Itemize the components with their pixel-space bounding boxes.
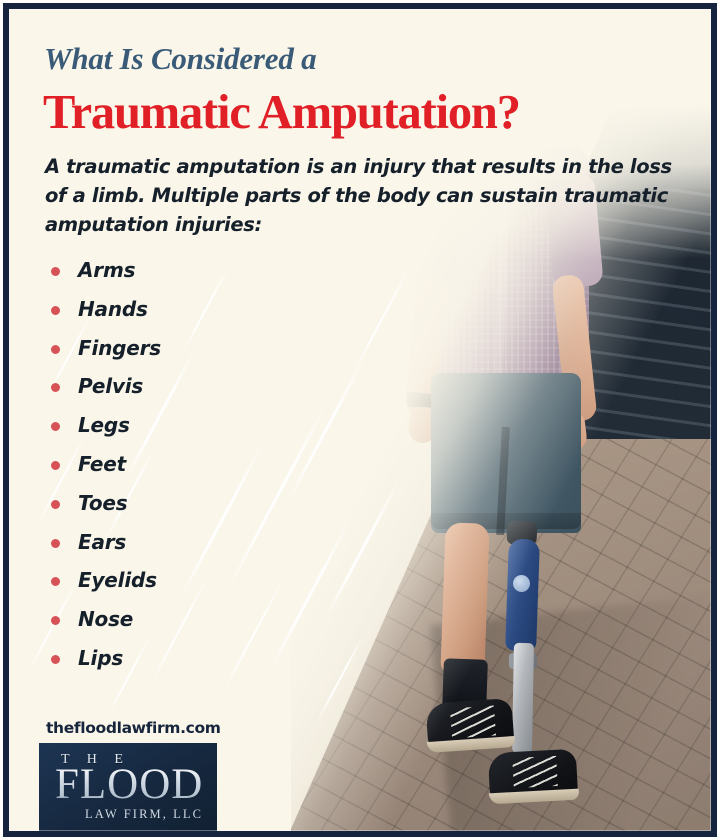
list-item-label: Eyelids	[78, 568, 157, 592]
bullet-dot-icon	[51, 345, 60, 354]
list-item: Ears	[47, 527, 347, 566]
list-item: Fingers	[47, 333, 347, 372]
list-item-label: Arms	[78, 258, 135, 282]
list-item-label: Lips	[78, 646, 123, 670]
bullet-dot-icon	[51, 422, 60, 431]
bullet-dot-icon	[51, 539, 60, 548]
list-item-label: Nose	[78, 607, 133, 631]
list-item: Toes	[47, 488, 347, 527]
list-item-label: Fingers	[78, 336, 161, 360]
list-item-label: Toes	[78, 491, 127, 515]
bullet-dot-icon	[51, 500, 60, 509]
content-layer: What Is Considered a Traumatic Amputatio…	[9, 9, 711, 831]
bullet-dot-icon	[51, 461, 60, 470]
bullet-dot-icon	[51, 577, 60, 586]
list-item: Eyelids	[47, 565, 347, 604]
list-item-label: Hands	[78, 297, 148, 321]
list-item: Pelvis	[47, 371, 347, 410]
intro-paragraph: A traumatic amputation is an injury that…	[45, 152, 677, 239]
page-title: Traumatic Amputation?	[43, 83, 520, 140]
list-item-label: Pelvis	[78, 374, 143, 398]
list-item: Hands	[47, 294, 347, 333]
infographic-frame: What Is Considered a Traumatic Amputatio…	[3, 3, 717, 837]
body-parts-list: Arms Hands Fingers Pelvis Legs	[47, 255, 347, 682]
bullet-dot-icon	[51, 655, 60, 664]
infographic-root: What Is Considered a Traumatic Amputatio…	[0, 0, 720, 840]
list-item: Arms	[47, 255, 347, 294]
bullet-dot-icon	[51, 267, 60, 276]
headline-kicker: What Is Considered a	[44, 41, 316, 77]
list-item-label: Ears	[78, 530, 126, 554]
logo-line-flood: FLOOD	[55, 763, 203, 806]
list-item: Nose	[47, 604, 347, 643]
list-item-label: Feet	[78, 452, 126, 476]
list-item: Feet	[47, 449, 347, 488]
firm-logo[interactable]: T H E FLOOD LAW FIRM, LLC	[39, 743, 217, 831]
logo-line-lawfirm: LAW FIRM, LLC	[85, 807, 203, 822]
list-item: Lips	[47, 643, 347, 682]
bullet-dot-icon	[51, 306, 60, 315]
bullet-dot-icon	[51, 383, 60, 392]
list-item: Legs	[47, 410, 347, 449]
website-url[interactable]: thefloodlawfirm.com	[46, 719, 221, 737]
bullet-dot-icon	[51, 616, 60, 625]
list-item-label: Legs	[78, 413, 130, 437]
